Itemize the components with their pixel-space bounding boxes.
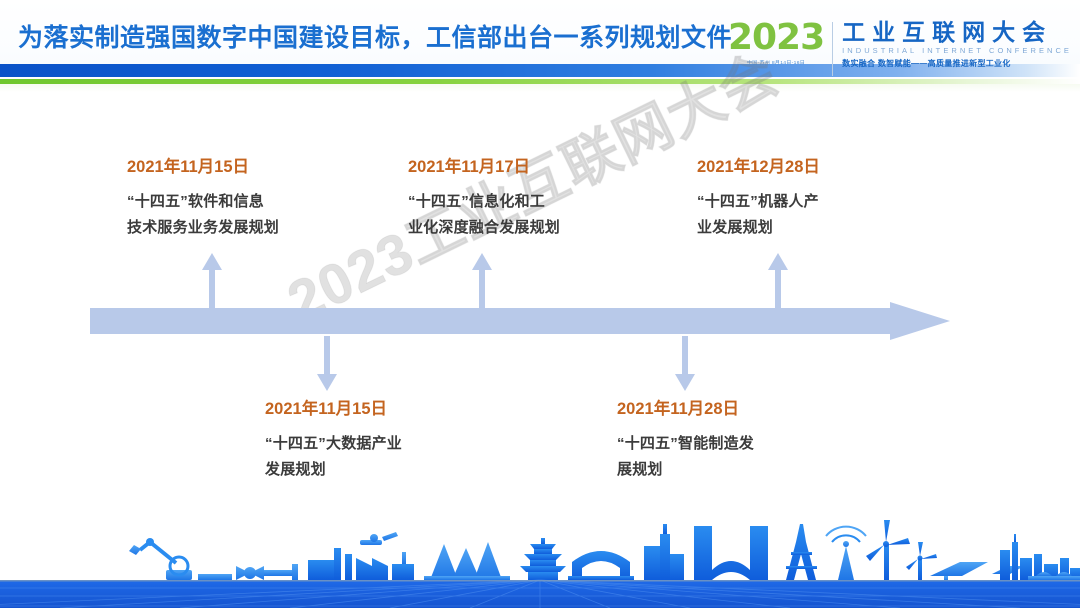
event-date: 2021年12月28日 <box>697 158 912 178</box>
connector-up-1 <box>200 253 224 308</box>
header-rule-fade <box>0 84 1080 92</box>
event-description: “十四五”机器人产 业发展规划 <box>697 189 912 242</box>
event-description: “十四五”软件和信息 技术服务业务发展规划 <box>127 189 342 242</box>
event-description: “十四五”大数据产业 发展规划 <box>265 431 480 484</box>
event-desc-line: “十四五”信息化和工 <box>408 189 623 216</box>
event-desc-line: “十四五”智能制造发 <box>617 431 832 458</box>
page-title: 为落实制造强国数字中国建设目标，工信部出台一系列规划文件 <box>18 18 732 54</box>
connector-down-2 <box>673 336 697 391</box>
crane-cluster-icon <box>424 542 510 580</box>
event-desc-line: 展规划 <box>617 457 832 484</box>
arrow-up-icon <box>766 253 790 308</box>
factory-icon <box>308 532 414 580</box>
logo-slogan: 数实融合 数智赋能——高质量推进新型工业化 <box>842 58 1072 69</box>
arrow-down-icon <box>673 336 697 391</box>
logo-name-block: 工业互联网大会 INDUSTRIAL INTERNET CONFERENCE 数… <box>842 20 1072 69</box>
connector-up-3 <box>766 253 790 308</box>
event-desc-line: “十四五”大数据产业 <box>265 431 480 458</box>
timeline-event: 2021年11月15日 “十四五”软件和信息 技术服务业务发展规划 <box>127 158 342 242</box>
logo-divider <box>832 22 833 76</box>
slide-canvas: 为落实制造强国数字中国建设目标，工信部出台一系列规划文件 2023 中国·苏州 … <box>0 0 1080 608</box>
arrow-up-icon <box>470 253 494 308</box>
logo-year-subtitle: 中国·苏州 8月14日-16日 <box>747 59 805 65</box>
event-desc-line: 发展规划 <box>265 457 480 484</box>
arrow-up-icon <box>200 253 224 308</box>
event-desc-line: “十四五”软件和信息 <box>127 189 342 216</box>
timeline-event: 2021年11月15日 “十四五”大数据产业 发展规划 <box>265 400 480 484</box>
pipe-machine-icon <box>198 564 298 580</box>
eiffel-tower-icon <box>786 524 817 580</box>
timeline-arrow-icon <box>90 302 950 342</box>
tower-block-icon <box>644 524 684 580</box>
event-description: “十四五”信息化和工 业化深度融合发展规划 <box>408 189 623 242</box>
event-date: 2021年11月17日 <box>408 158 623 178</box>
arrow-down-icon <box>315 336 339 391</box>
signal-tower-icon <box>826 527 866 580</box>
wind-turbine-icon <box>866 520 910 580</box>
logo-name-cn: 工业互联网大会 <box>842 20 1072 44</box>
logo-year-block: 2023 中国·苏州 8月14日-16日 <box>728 20 832 66</box>
city-skyline-graphic <box>0 518 1080 608</box>
timeline-event: 2021年11月28日 “十四五”智能制造发 展规划 <box>617 400 832 484</box>
event-desc-line: 技术服务业务发展规划 <box>127 215 342 242</box>
timeline-event: 2021年12月28日 “十四五”机器人产 业发展规划 <box>697 158 912 242</box>
event-date: 2021年11月15日 <box>265 400 480 420</box>
logo-year: 2023 <box>728 20 824 56</box>
robot-arm-icon <box>129 538 192 580</box>
event-desc-line: 业化深度融合发展规划 <box>408 215 623 242</box>
conference-logo: 2023 中国·苏州 8月14日-16日 工业互联网大会 INDUSTRIAL … <box>728 20 1072 82</box>
skyline-silhouette <box>129 520 1080 581</box>
event-date: 2021年11月28日 <box>617 400 832 420</box>
timeline-event: 2021年11月17日 “十四五”信息化和工 业化深度融合发展规划 <box>408 158 623 242</box>
gate-towers-icon <box>694 526 768 580</box>
footer-skyline <box>0 518 1080 608</box>
event-desc-line: “十四五”机器人产 <box>697 189 912 216</box>
timeline-axis <box>90 302 950 342</box>
event-date: 2021年11月15日 <box>127 158 342 178</box>
footer-band <box>0 580 1080 608</box>
event-desc-line: 业发展规划 <box>697 215 912 242</box>
wind-turbine-icon <box>906 542 937 580</box>
logo-name-en: INDUSTRIAL INTERNET CONFERENCE <box>842 46 1072 55</box>
arch-building-icon <box>568 551 634 580</box>
event-description: “十四五”智能制造发 展规划 <box>617 431 832 484</box>
slide-header: 为落实制造强国数字中国建设目标，工信部出台一系列规划文件 2023 中国·苏州 … <box>0 0 1080 92</box>
connector-down-1 <box>315 336 339 391</box>
pagoda-icon <box>520 538 566 580</box>
connector-up-2 <box>470 253 494 308</box>
